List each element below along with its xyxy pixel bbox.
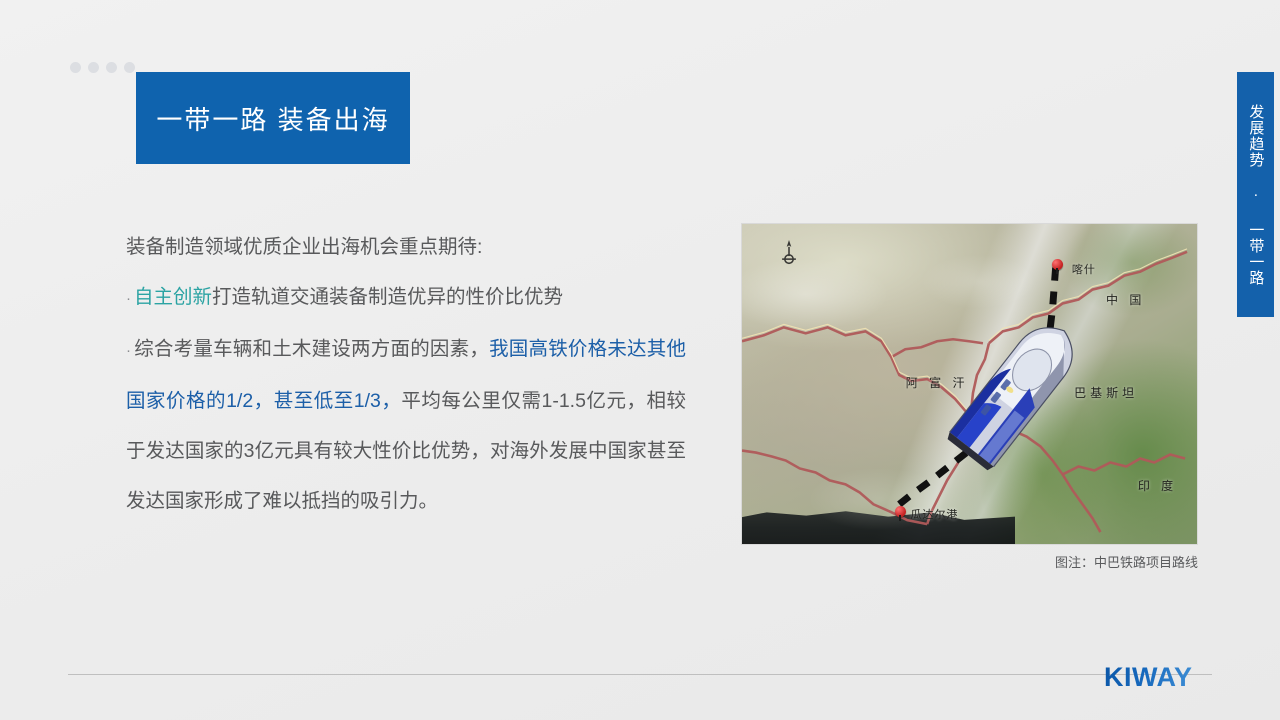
section-tab-label: 发展趋势 · 一带一路 bbox=[1246, 104, 1266, 286]
kiway-logo: KIWAY bbox=[1104, 662, 1193, 693]
map-label-pakistan: 巴基斯坦 bbox=[1074, 384, 1138, 401]
map-label-china: 中 国 bbox=[1106, 291, 1145, 308]
paragraph-before: 综合考量车辆和土木建设两方面的因素， bbox=[134, 338, 489, 360]
bullet-highlight: 自主创新 bbox=[134, 286, 212, 308]
body-lead: 装备制造领域优质企业出海机会重点期待: bbox=[126, 222, 686, 272]
satellite-map-image: 中 国 阿 富 汗 巴基斯坦 印 度 喀什 瓜达尔港 bbox=[741, 223, 1198, 545]
decorative-dot bbox=[88, 62, 99, 73]
map-label-afghanistan: 阿 富 汗 bbox=[906, 374, 969, 391]
figure-caption: 图注：中巴铁路项目路线 bbox=[741, 552, 1198, 571]
decorative-dot bbox=[124, 62, 135, 73]
bullet-rest: 打造轨道交通装备制造优异的性价比优势 bbox=[212, 286, 563, 308]
slide-canvas: 一带一路 装备出海 发展趋势 · 一带一路 装备制造领域优质企业出海机会重点期待… bbox=[0, 0, 1280, 720]
decorative-dots bbox=[70, 62, 135, 73]
bullet-marker-icon: · bbox=[126, 342, 134, 359]
body-lead-text: 装备制造领域优质企业出海机会重点期待: bbox=[126, 236, 482, 258]
section-tab[interactable]: 发展趋势 · 一带一路 bbox=[1237, 72, 1274, 317]
decorative-dot bbox=[106, 62, 117, 73]
compass-rose-icon bbox=[781, 240, 797, 266]
map-pin-gwadar bbox=[895, 506, 906, 517]
slide-title-box: 一带一路 装备出海 bbox=[136, 72, 410, 164]
decorative-dot bbox=[70, 62, 81, 73]
body-copy: 装备制造领域优质企业出海机会重点期待: ·自主创新打造轨道交通装备制造优异的性价… bbox=[126, 222, 686, 526]
map-label-india: 印 度 bbox=[1138, 477, 1177, 494]
page-title: 一带一路 装备出海 bbox=[156, 100, 389, 137]
map-label-gwadar: 瓜达尔港 bbox=[910, 506, 958, 522]
paragraph-item: ·综合考量车辆和土木建设两方面的因素，我国高铁价格未达其他国家价格的1/2，甚至… bbox=[126, 324, 686, 526]
bullet-marker-icon: · bbox=[126, 290, 134, 307]
map-label-kashgar: 喀什 bbox=[1072, 261, 1096, 277]
footer-divider bbox=[68, 674, 1212, 675]
bullet-item: ·自主创新打造轨道交通装备制造优异的性价比优势 bbox=[126, 272, 686, 324]
map-figure: 中 国 阿 富 汗 巴基斯坦 印 度 喀什 瓜达尔港 bbox=[741, 223, 1198, 545]
